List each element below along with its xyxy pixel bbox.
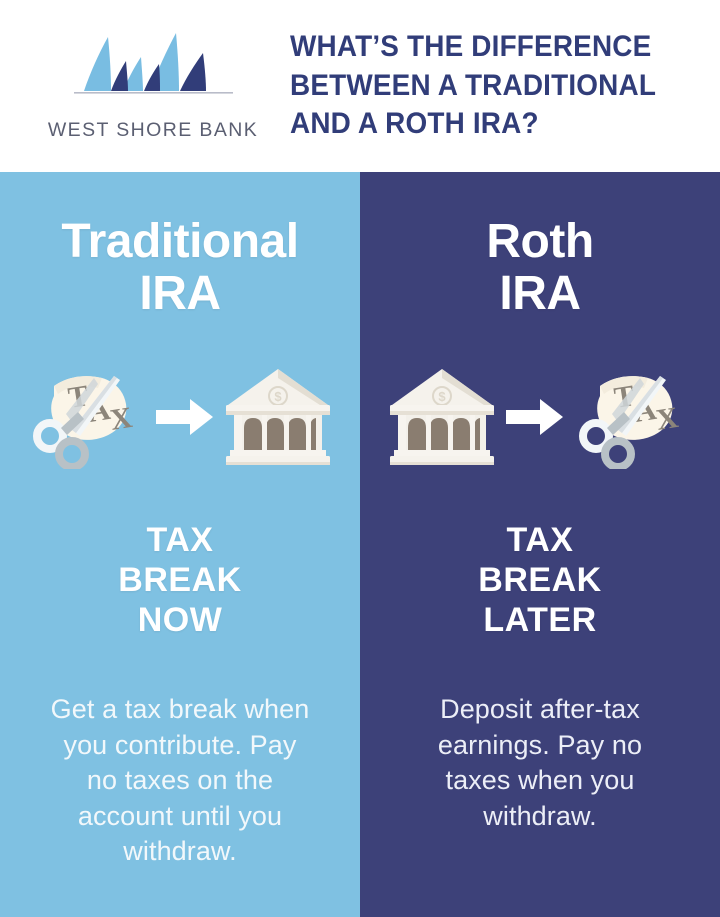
bank-building-icon: $: [224, 366, 332, 468]
tax-break-traditional-line-1: TAX: [118, 520, 241, 560]
tax-break-roth-line-2: BREAK: [478, 560, 601, 600]
page-title: WHAT’S THE DIFFERENCE BETWEEN A TRADITIO…: [290, 28, 690, 143]
scissors-cutting-tax-paper-icon: T A X: [28, 364, 146, 469]
svg-text:$: $: [274, 389, 282, 404]
ira-comparison-infographic: WEST SHORE BANK WHAT’S THE DIFFERENCE BE…: [0, 0, 720, 917]
page-title-line-2: BETWEEN A TRADITIONAL: [290, 67, 690, 105]
tax-break-traditional: TAX BREAK NOW: [118, 520, 241, 640]
panel-traditional-ira: Traditional IRA T A X: [0, 172, 360, 917]
brand-wordmark: WEST SHORE BANK: [48, 119, 258, 142]
sailboat-sails-logo: [66, 31, 241, 113]
svg-text:X: X: [654, 401, 681, 437]
arrow-right-icon: [156, 396, 214, 438]
panel-heading-traditional-line-2: IRA: [61, 268, 298, 320]
svg-text:X: X: [108, 401, 135, 437]
scissors-cutting-tax-paper-icon: T A X: [574, 364, 692, 469]
tax-break-roth: TAX BREAK LATER: [478, 520, 601, 640]
icon-row-roth: $: [380, 362, 700, 472]
bank-building-icon: $: [388, 366, 496, 468]
panel-roth-ira: Roth IRA $: [360, 172, 720, 917]
tax-break-traditional-line-2: BREAK: [118, 560, 241, 600]
icon-row-traditional: T A X: [20, 362, 340, 472]
header: WEST SHORE BANK WHAT’S THE DIFFERENCE BE…: [0, 0, 720, 172]
panel-body-traditional: Get a tax break when you contribute. Pay…: [49, 692, 311, 870]
svg-text:$: $: [438, 389, 446, 404]
tax-break-roth-line-1: TAX: [478, 520, 601, 560]
page-title-line-1: WHAT’S THE DIFFERENCE: [290, 28, 690, 66]
comparison-panels: Traditional IRA T A X: [0, 172, 720, 917]
panel-heading-roth: Roth IRA: [486, 216, 593, 320]
tax-break-traditional-line-3: NOW: [118, 600, 241, 640]
tax-break-roth-line-3: LATER: [478, 600, 601, 640]
page-title-line-3: AND A ROTH IRA?: [290, 105, 690, 143]
panel-heading-roth-line-1: Roth: [486, 215, 593, 268]
panel-heading-traditional: Traditional IRA: [61, 216, 298, 320]
panel-heading-traditional-line-1: Traditional: [61, 215, 298, 268]
panel-body-roth: Deposit after-tax earnings. Pay no taxes…: [409, 692, 671, 835]
panel-heading-roth-line-2: IRA: [486, 268, 593, 320]
arrow-right-icon: [506, 396, 564, 438]
brand-logo: WEST SHORE BANK: [28, 31, 278, 142]
